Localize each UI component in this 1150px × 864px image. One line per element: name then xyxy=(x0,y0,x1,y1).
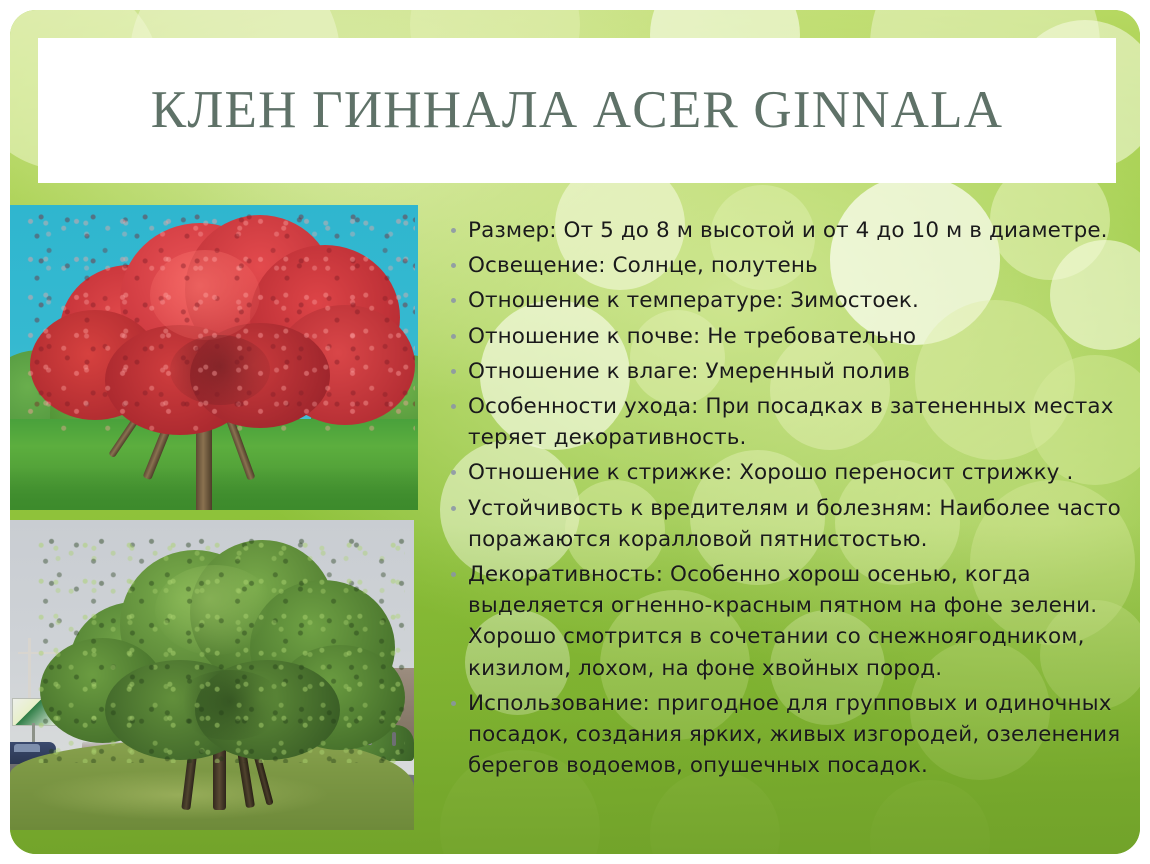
list-item-label: Отношение к стрижке: Хорошо переносит ст… xyxy=(468,460,1073,485)
presentation-slide: Клен гиннала Acer ginnala xyxy=(10,10,1140,854)
list-item: Отношение к влаге: Умеренный полив xyxy=(450,356,1140,387)
list-item: Размер: От 5 до 8 м высотой и от 4 до 10… xyxy=(450,215,1140,246)
list-item-label: Декоративность: Особенно хорош осенью, к… xyxy=(468,562,1097,681)
summer-crown-texture xyxy=(35,538,405,763)
summer-maple-photo xyxy=(10,520,414,830)
list-item-label: Освещение: Солнце, полутень xyxy=(468,253,818,278)
list-item: Освещение: Солнце, полутень xyxy=(450,250,1140,281)
list-item-label: Использование: пригодное для групповых и… xyxy=(468,691,1120,778)
bullet-dot-icon xyxy=(451,701,456,706)
list-item-label: Отношение к почве: Не требовательно xyxy=(468,324,916,349)
bullet-dot-icon xyxy=(451,369,456,374)
list-item: Особенности ухода: При посадках в затене… xyxy=(450,391,1140,453)
list-item: Отношение к почве: Не требовательно xyxy=(450,321,1140,352)
list-item-label: Устойчивость к вредителям и болезням: На… xyxy=(468,496,1121,552)
list-item: Использование: пригодное для групповых и… xyxy=(450,688,1140,782)
title-box: Клен гиннала Acer ginnala xyxy=(38,38,1116,183)
bullet-dot-icon xyxy=(451,470,456,475)
autumn-photo-lawn-shadow xyxy=(10,467,418,510)
bullet-dot-icon xyxy=(451,334,456,339)
list-item: Отношение к температуре: Зимостоек. xyxy=(450,285,1140,316)
list-item-label: Особенности ухода: При посадках в затене… xyxy=(468,394,1114,450)
bullet-dot-icon xyxy=(451,506,456,511)
bullet-dot-icon xyxy=(451,228,456,233)
body-text-block: Размер: От 5 до 8 м высотой и от 4 до 10… xyxy=(450,215,1140,785)
bullet-dot-icon xyxy=(451,404,456,409)
list-item: Устойчивость к вредителям и болезням: На… xyxy=(450,493,1140,555)
list-item: Декоративность: Особенно хорош осенью, к… xyxy=(450,559,1140,684)
list-item: Отношение к стрижке: Хорошо переносит ст… xyxy=(450,457,1140,488)
autumn-maple-photo xyxy=(10,205,418,510)
list-item-label: Размер: От 5 до 8 м высотой и от 4 до 10… xyxy=(468,218,1108,243)
grass-highlight xyxy=(30,770,330,820)
list-item-label: Отношение к влаге: Умеренный полив xyxy=(468,359,910,384)
autumn-crown-texture xyxy=(25,213,415,433)
bullet-dot-icon xyxy=(451,263,456,268)
bullet-dot-icon xyxy=(451,298,456,303)
bullet-dot-icon xyxy=(451,572,456,577)
page-title: Клен гиннала Acer ginnala xyxy=(151,84,1003,137)
list-item-label: Отношение к температуре: Зимостоек. xyxy=(468,288,919,313)
